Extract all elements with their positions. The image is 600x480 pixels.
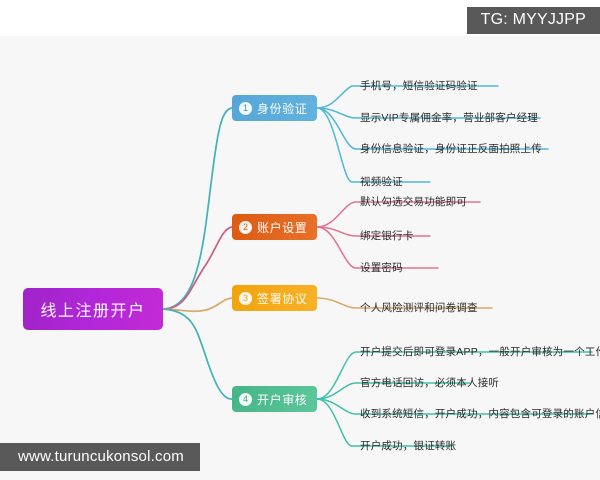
branch-number-badge: 1 <box>239 102 252 115</box>
leaf-label: 收到系统短信，开户成功，内容包含可登录的账户信息 <box>360 406 600 421</box>
leaf-label: 个人风险测评和问卷调查 <box>360 300 478 315</box>
leaf-label: 开户提交后即可登录APP，一般开户审核为一个工作日 <box>360 344 600 359</box>
watermark-top: TG: MYYJJPP <box>467 7 600 34</box>
branch-node-label: 账户设置 <box>257 219 307 236</box>
branch-node-sign-agreement[interactable]: 3 签署协议 <box>232 285 317 311</box>
branch-number-badge: 3 <box>239 292 252 305</box>
branch-number-badge: 4 <box>239 393 252 406</box>
leaf-label: 默认勾选交易功能即可 <box>360 194 467 209</box>
connector-root-to-branch-4 <box>163 309 232 399</box>
leaf-label: 手机号，短信验证码验证 <box>360 78 478 93</box>
root-node-label: 线上注册开户 <box>40 297 145 321</box>
root-node[interactable]: 线上注册开户 <box>23 288 163 330</box>
branch-node-label: 开户审核 <box>257 391 307 408</box>
branch-node-identity-verification[interactable]: 1 身份验证 <box>232 95 317 121</box>
subconnectors-branch-4 <box>317 352 592 446</box>
branch-node-account-settings[interactable]: 2 账户设置 <box>232 214 317 240</box>
leaf-label: 官方电话回访，必须本人接听 <box>360 375 499 390</box>
watermark-bottom: www.turuncukonsol.com <box>0 443 200 471</box>
branch-node-label: 签署协议 <box>257 290 307 307</box>
connector-root-to-branch-3 <box>163 298 232 311</box>
leaf-label: 显示VIP专属佣金率，营业部客户经理 <box>360 110 538 125</box>
leaf-label: 绑定银行卡 <box>360 228 414 243</box>
branch-node-label: 身份验证 <box>257 100 307 117</box>
leaf-label: 视频验证 <box>360 174 403 189</box>
leaf-label: 身份信息验证，身份证正反面拍照上传 <box>360 141 542 156</box>
branch-node-account-review[interactable]: 4 开户审核 <box>232 386 317 412</box>
branch-number-badge: 2 <box>239 221 252 234</box>
mindmap-canvas: 线上注册开户 1 身份验证 手机号，短信验证码验证 显示VIP专属佣金率，营业部… <box>0 36 600 480</box>
leaf-label: 开户成功，银证转账 <box>360 438 456 453</box>
leaf-label: 设置密码 <box>360 260 403 275</box>
subconnectors-branch-1 <box>317 86 548 182</box>
